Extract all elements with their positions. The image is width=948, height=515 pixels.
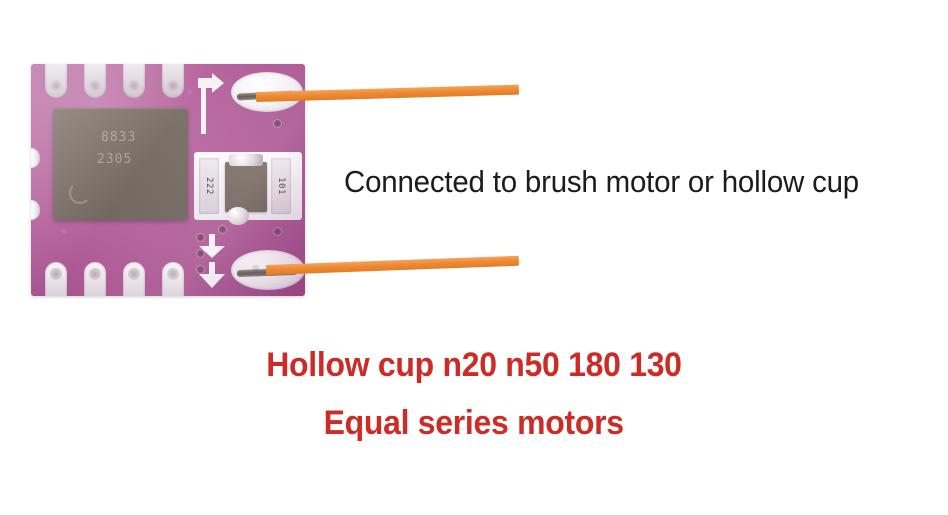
driver-ic: 8833 2305 — [53, 108, 188, 220]
caption-line-1: Hollow cup n20 n50 180 130 — [0, 346, 948, 385]
inductor-solder-bottom — [227, 207, 249, 225]
image-canvas: 8833 2305 222 101 — [0, 0, 948, 515]
castellated-pad-top-2 — [84, 64, 106, 98]
castellated-pad-top-4 — [162, 64, 184, 98]
castellated-pad-bottom-4 — [162, 262, 184, 296]
inductor-solder-top — [229, 154, 263, 166]
via-right-lower — [274, 228, 281, 235]
castellated-pad-bottom-2 — [84, 262, 106, 296]
caption-line-1-text: Hollow cup n20 n50 180 130 — [266, 346, 681, 385]
inductor-block — [225, 162, 267, 212]
driver-ic-marking-line2: 2305 — [97, 152, 132, 167]
castellated-pad-left-1 — [31, 148, 40, 168]
via-right-upper — [274, 120, 281, 127]
silk-arrow-top — [194, 72, 228, 134]
caption-line-2-text: Equal series motors — [324, 404, 624, 443]
resistor-101-code: 101 — [276, 177, 286, 195]
driver-ic-pin1-marker — [69, 182, 91, 204]
castellated-pad-bottom-3 — [123, 262, 145, 296]
resistor-101: 101 — [271, 158, 291, 214]
resistor-222-code: 222 — [204, 177, 214, 195]
resistor-222: 222 — [199, 158, 219, 214]
castellated-pad-top-1 — [45, 64, 67, 98]
callout-label: Connected to brush motor or hollow cup — [344, 162, 859, 202]
castellated-pad-left-2 — [31, 200, 40, 220]
driver-ic-marking-line1: 8833 — [101, 130, 136, 145]
castellated-pad-bottom-1 — [45, 262, 67, 296]
silk-arrow-bottom — [196, 232, 228, 290]
caption-line-2: Equal series motors — [0, 404, 948, 443]
castellated-pad-top-3 — [123, 64, 145, 98]
